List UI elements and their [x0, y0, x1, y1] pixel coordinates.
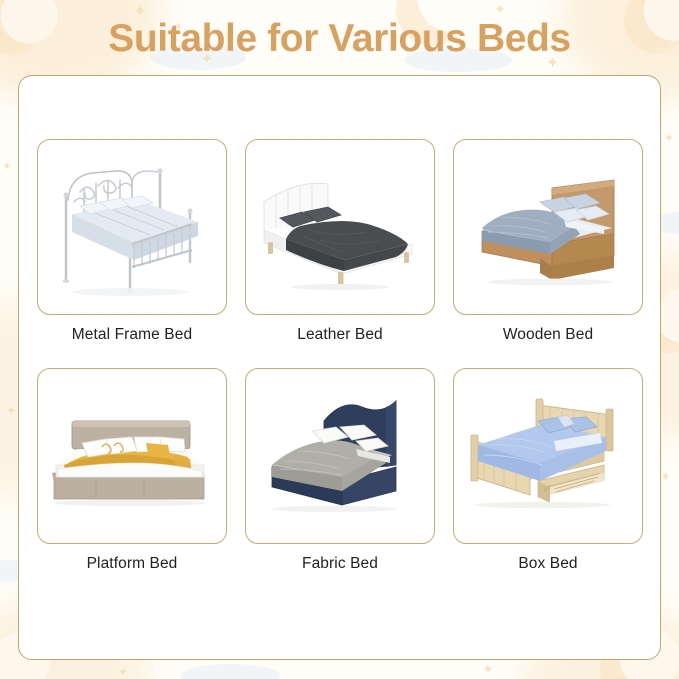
star-icon: ✦ [482, 662, 494, 676]
bed-type-label: Metal Frame Bed [37, 326, 227, 344]
leather-bed-card[interactable] [245, 139, 435, 315]
bed-type-label: Platform Bed [37, 555, 227, 573]
star-icon: ✦ [660, 470, 671, 483]
content-panel: Metal Frame Bed [18, 75, 661, 660]
platform-bed-card[interactable] [37, 368, 227, 544]
bed-type-item[interactable]: Fabric Bed [245, 368, 435, 573]
bed-type-label: Box Bed [453, 555, 643, 573]
box-bed-image [454, 369, 643, 544]
leather-bed-image [246, 140, 435, 315]
bed-type-item[interactable]: Wooden Bed [453, 139, 643, 344]
star-icon: ✦ [494, 2, 506, 16]
box-bed-card[interactable] [453, 368, 643, 544]
bed-type-label: Fabric Bed [245, 555, 435, 573]
fabric-bed-image [246, 369, 435, 544]
bed-type-item[interactable]: Box Bed [453, 368, 643, 573]
page-title: Suitable for Various Beds [0, 17, 679, 61]
star-icon: ✦ [118, 666, 128, 678]
platform-bed-image [38, 369, 227, 544]
star-icon: ✦ [664, 132, 674, 144]
bed-type-label: Wooden Bed [453, 326, 643, 344]
bed-type-grid: Metal Frame Bed [37, 139, 644, 573]
fabric-bed-card[interactable] [245, 368, 435, 544]
bed-type-item[interactable]: Platform Bed [37, 368, 227, 573]
wooden-bed-image [454, 140, 643, 315]
star-icon: ✦ [6, 404, 17, 417]
bed-type-item[interactable]: Metal Frame Bed [37, 139, 227, 344]
cloud-icon [180, 664, 280, 679]
metal-frame-bed-card[interactable] [37, 139, 227, 315]
metal-frame-bed-image [38, 140, 227, 315]
wooden-bed-card[interactable] [453, 139, 643, 315]
star-icon: ✦ [2, 160, 12, 172]
bed-type-label: Leather Bed [245, 326, 435, 344]
bed-type-item[interactable]: Leather Bed [245, 139, 435, 344]
